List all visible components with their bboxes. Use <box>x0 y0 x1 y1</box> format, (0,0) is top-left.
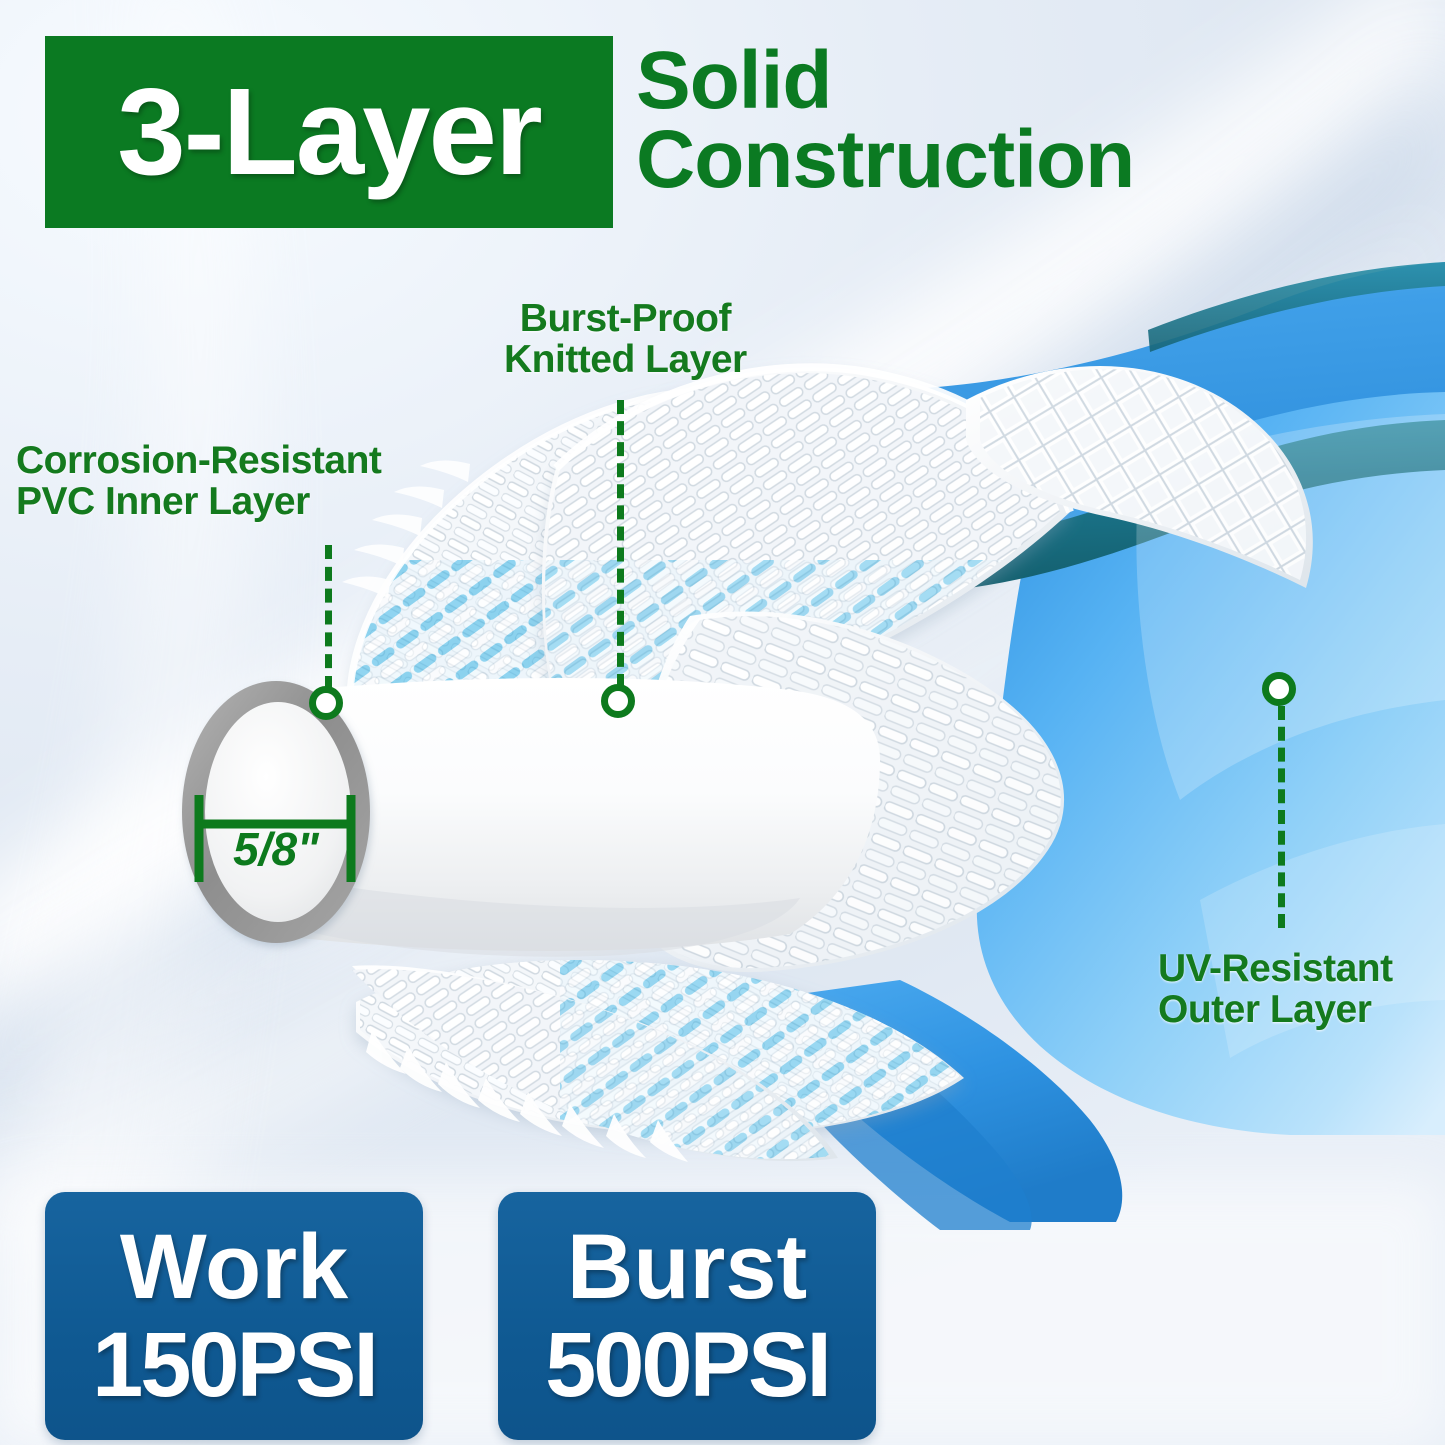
callout-pvc-line1: Corrosion-Resistant <box>16 440 381 481</box>
callout-label-uv: UV-Resistant Outer Layer <box>1158 948 1393 1031</box>
spec-badge-work-title: Work <box>120 1221 348 1313</box>
ring-marker-uv <box>1262 672 1296 706</box>
spec-badge-work: Work 150PSI <box>45 1192 423 1440</box>
callout-label-pvc: Corrosion-Resistant PVC Inner Layer <box>16 440 381 523</box>
diameter-label: 5/8" <box>233 823 320 875</box>
spec-badge-burst-value: 500PSI <box>545 1319 829 1411</box>
page-title-line2: Construction <box>636 121 1196 200</box>
spec-badge-burst: Burst 500PSI <box>498 1192 876 1440</box>
callout-uv-line2: Outer Layer <box>1158 989 1393 1030</box>
leader-line-uv <box>1278 706 1285 928</box>
spec-badge-work-value: 150PSI <box>92 1319 376 1411</box>
leader-line-pvc <box>325 545 332 690</box>
three-layer-badge: 3-Layer <box>45 36 613 228</box>
ring-marker-pvc <box>309 686 343 720</box>
callout-uv-line1: UV-Resistant <box>1158 948 1393 989</box>
page-title-line1: Solid <box>636 35 831 126</box>
ring-marker-knitted <box>601 684 635 718</box>
page-title: Solid Construction <box>636 42 1196 199</box>
callout-knitted-line2: Knitted Layer <box>504 339 747 380</box>
three-layer-badge-text: 3-Layer <box>117 71 541 194</box>
callout-knitted-line1: Burst-Proof <box>504 298 747 339</box>
callout-label-knitted: Burst-Proof Knitted Layer <box>504 298 747 381</box>
spec-badge-burst-title: Burst <box>567 1221 807 1313</box>
callout-pvc-line2: PVC Inner Layer <box>16 481 381 522</box>
pvc-inner-tube <box>182 678 880 957</box>
leader-line-knitted <box>617 400 624 688</box>
infographic-canvas: 5/8" 3-Layer Solid Construction Burst-Pr… <box>0 0 1445 1445</box>
